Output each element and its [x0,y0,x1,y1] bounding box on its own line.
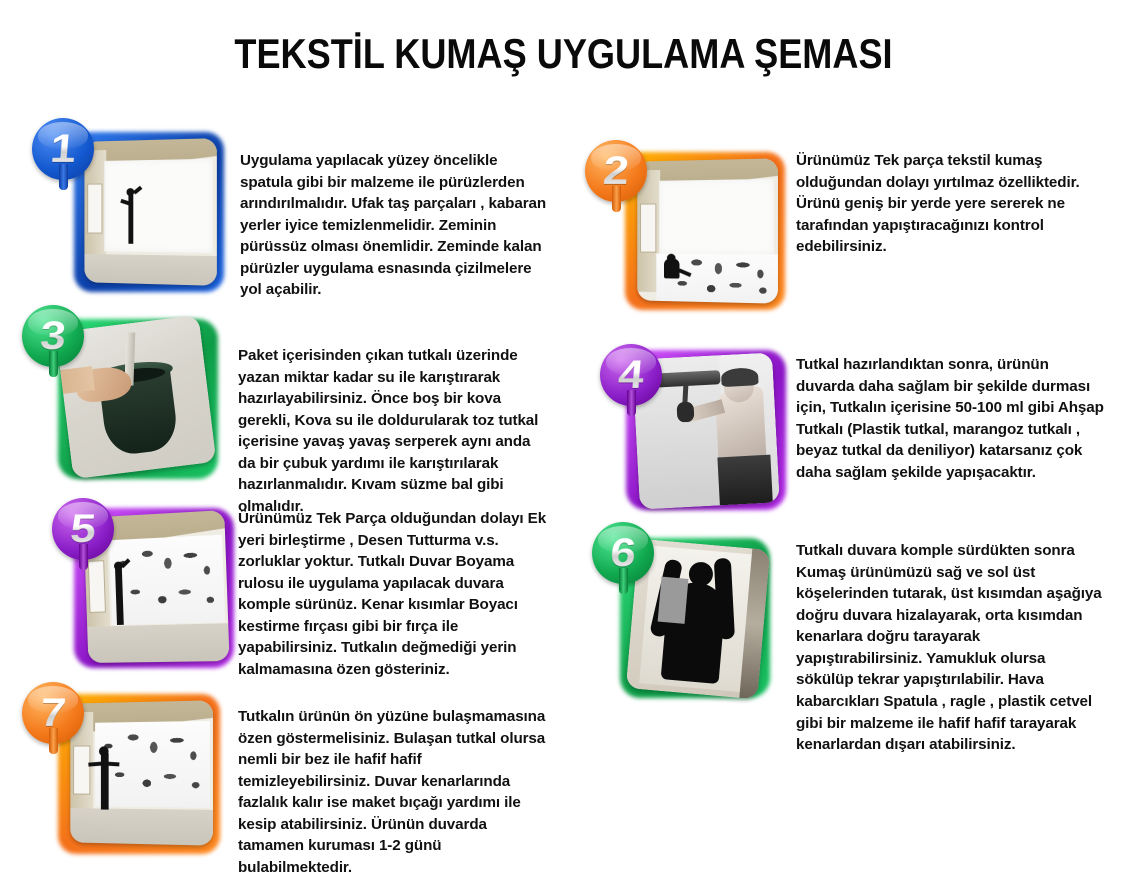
window [88,561,107,613]
step-5-text: Ürünümüz Tek Parça olduğundan dolayı Ek … [238,508,550,681]
step-1: 1 Uygulama yapılacak yüzey öncelikle spa… [28,118,568,308]
step-6-badge: 6 [592,522,654,584]
step-1-figure: 1 [28,118,228,298]
forearm [60,367,94,394]
step-6: 6 Tutkalı duvara komple sürdükten sonra … [592,522,1122,752]
step-4-badge: 4 [600,344,662,406]
step-1-number: 1 [49,129,78,169]
step-7-photo [70,700,213,845]
step-4-figure: 4 [600,340,800,520]
step-5-figure: 5 [52,498,242,678]
step-7: 7 Tutkalın ürünün ön yüzüne bulaşmamasın… [22,682,562,872]
step-4-number: 4 [617,355,646,395]
step-1-photo [84,138,216,286]
person-head [667,253,676,262]
step-3-badge: 3 [22,305,84,367]
step-3-text: Paket içerisinden çıkan tutkalı üzerinde… [238,345,550,518]
person-hair-bw [721,367,758,387]
step-2-text: Ürünümüz Tek parça tekstil kumaş olduğun… [796,150,1106,258]
step-6-text: Tutkalı duvara komple sürdükten sonra Ku… [796,540,1106,756]
scene [84,138,216,286]
step-2-photo [637,158,778,303]
step-7-badge: 7 [22,682,84,744]
person-pants-bw [717,455,773,506]
floor [70,808,213,846]
step-2-frame [625,152,785,310]
person-glove-bw [676,402,694,422]
photo-plate [70,700,213,845]
step-1-text: Uygulama yapılacak yüzey öncelikle spatu… [240,150,552,301]
scene [70,700,213,845]
step-6-number: 6 [609,533,638,573]
step-1-badge: 1 [32,118,94,180]
floor [84,254,216,286]
step-7-number: 7 [39,693,68,733]
step-3-figure: 3 [22,305,227,495]
step-7-text: Tutkalın ürünün ön yüzüne bulaşmamasına … [238,706,550,879]
step-5-badge: 5 [52,498,114,560]
step-4-text: Tutkal hazırlandıktan sonra, ürünün duva… [796,354,1110,483]
person-arm-out-right [107,761,119,766]
step-2-badge: 2 [585,140,647,202]
big-wall [659,179,774,254]
big-wall [105,159,213,253]
step-1-frame [74,132,224,292]
step-7-figure: 7 [22,682,227,862]
step-5-number: 5 [69,509,98,549]
step-2: 2 Ürünümüz Tek parça tekstil kumaş olduğ… [585,140,1125,325]
step-4: 4 Tutkal hazırlandıktan sonra, ürünün du… [600,340,1127,530]
person-arm-out [88,761,102,766]
gray-patch [658,577,688,624]
scene [637,158,778,303]
step-2-figure: 2 [585,140,795,315]
mural-wall [109,534,225,624]
step-6-figure: 6 [592,522,792,712]
photo-plate [84,138,216,286]
floor [87,623,229,663]
window [640,203,657,252]
window [73,745,90,794]
step-2-number: 2 [602,151,631,191]
window [87,184,103,234]
step-3: 3 Paket içerisinden çıkan tutkalı üzerin… [22,305,562,505]
photo-plate [637,158,778,303]
page-title: TEKSTİL KUMAŞ UYGULAMA ŞEMASI [79,30,1048,78]
step-3-number: 3 [39,316,68,356]
step-5: 5 Ürünümüz Tek Parça olduğundan dolayı E… [52,498,572,688]
